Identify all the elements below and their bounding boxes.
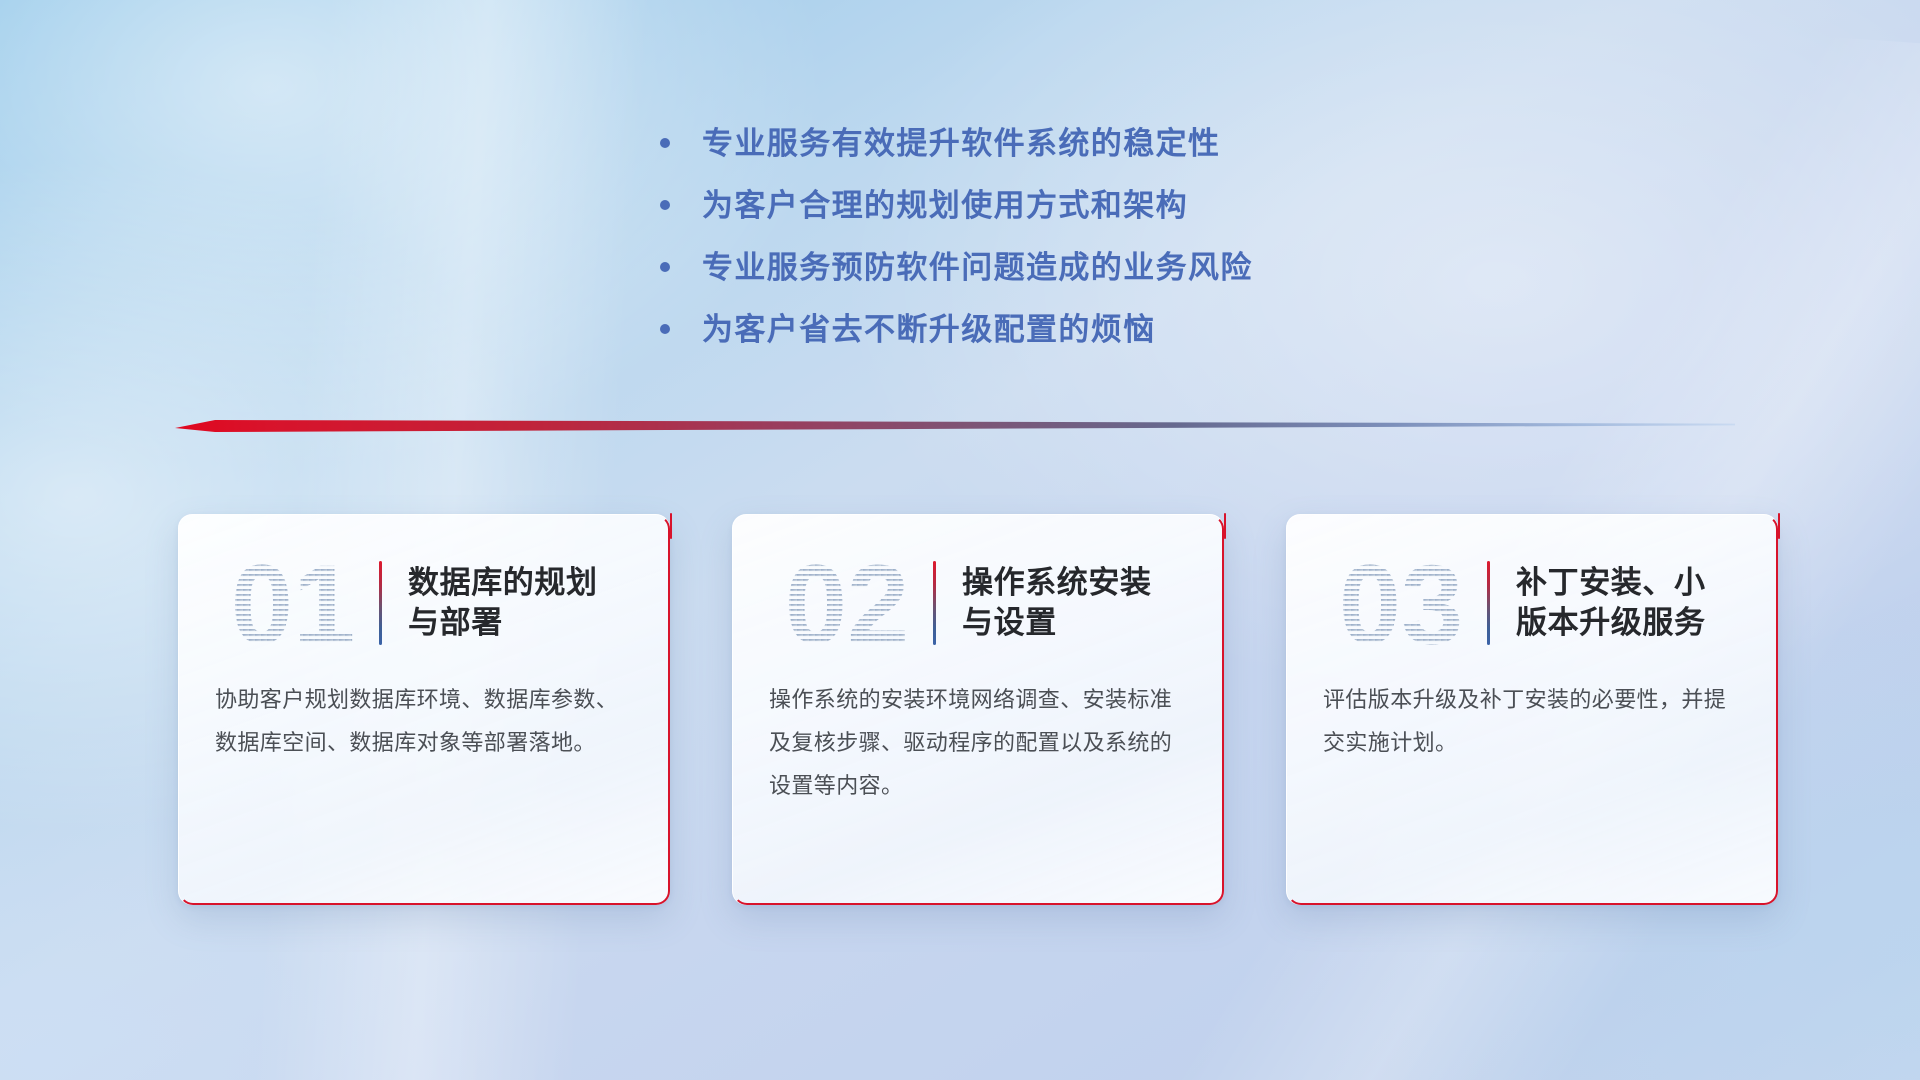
bullet-dot-icon <box>660 200 670 210</box>
card-description: 操作系统的安装环境网络调查、安装标准及复核步骤、驱动程序的配置以及系统的设置等内… <box>733 665 1224 808</box>
card-accent-bar <box>1487 561 1490 645</box>
card-number-glyph: 01 <box>231 542 356 667</box>
card-title-line2: 与设置 <box>962 603 1152 643</box>
service-card[interactable]: 01 数据库的规划 与部署 协助客户规划数据库环境、数据库参数、数据库空间、数据… <box>178 514 670 905</box>
card-header: 03 补丁安装、小 版本升级服务 <box>1287 515 1778 665</box>
bullet-item: 为客户合理的规划使用方式和架构 <box>660 174 1253 236</box>
card-title-line1: 操作系统安装 <box>962 563 1152 603</box>
bullet-dot-icon <box>660 262 670 272</box>
card-description: 评估版本升级及补丁安装的必要性，并提交实施计划。 <box>1287 665 1778 765</box>
bullet-label: 专业服务预防软件问题造成的业务风险 <box>702 252 1253 283</box>
benefit-bullet-list: 专业服务有效提升软件系统的稳定性 为客户合理的规划使用方式和架构 专业服务预防软… <box>660 112 1253 360</box>
bullet-dot-icon <box>660 138 670 148</box>
bullet-label: 专业服务有效提升软件系统的稳定性 <box>702 128 1220 159</box>
card-title-line1: 数据库的规划 <box>408 563 598 603</box>
bullet-label: 为客户合理的规划使用方式和架构 <box>702 190 1188 221</box>
bullet-item: 为客户省去不断升级配置的烦恼 <box>660 298 1253 360</box>
card-header: 01 数据库的规划 与部署 <box>179 515 670 665</box>
card-description: 协助客户规划数据库环境、数据库参数、数据库空间、数据库对象等部署落地。 <box>179 665 670 765</box>
card-header: 02 操作系统安装 与设置 <box>733 515 1224 665</box>
card-title: 操作系统安装 与设置 <box>962 563 1152 644</box>
card-number-glyph: 02 <box>785 542 910 667</box>
card-number-watermark: 03 <box>1321 539 1481 667</box>
service-card[interactable]: 02 操作系统安装 与设置 操作系统的安装环境网络调查、安装标准及复核步骤、驱动… <box>732 514 1224 905</box>
card-accent-bar <box>379 561 382 645</box>
card-title-line2: 与部署 <box>408 603 598 643</box>
card-accent-bar <box>933 561 936 645</box>
card-title-line1: 补丁安装、小 <box>1516 563 1706 603</box>
slide-canvas: 专业服务有效提升软件系统的稳定性 为客户合理的规划使用方式和架构 专业服务预防软… <box>0 0 1920 1080</box>
card-number-watermark: 01 <box>213 539 373 667</box>
bullet-label: 为客户省去不断升级配置的烦恼 <box>702 314 1156 345</box>
service-card-row: 01 数据库的规划 与部署 协助客户规划数据库环境、数据库参数、数据库空间、数据… <box>178 514 1778 905</box>
card-title: 数据库的规划 与部署 <box>408 563 598 644</box>
card-title: 补丁安装、小 版本升级服务 <box>1516 563 1706 644</box>
bullet-item: 专业服务预防软件问题造成的业务风险 <box>660 236 1253 298</box>
bullet-item: 专业服务有效提升软件系统的稳定性 <box>660 112 1253 174</box>
card-title-line2: 版本升级服务 <box>1516 603 1706 643</box>
card-number-watermark: 02 <box>767 539 927 667</box>
card-number-glyph: 03 <box>1339 542 1464 667</box>
section-divider <box>175 412 1735 438</box>
bullet-dot-icon <box>660 324 670 334</box>
service-card[interactable]: 03 补丁安装、小 版本升级服务 评估版本升级及补丁安装的必要性，并提交实施计划… <box>1286 514 1778 905</box>
